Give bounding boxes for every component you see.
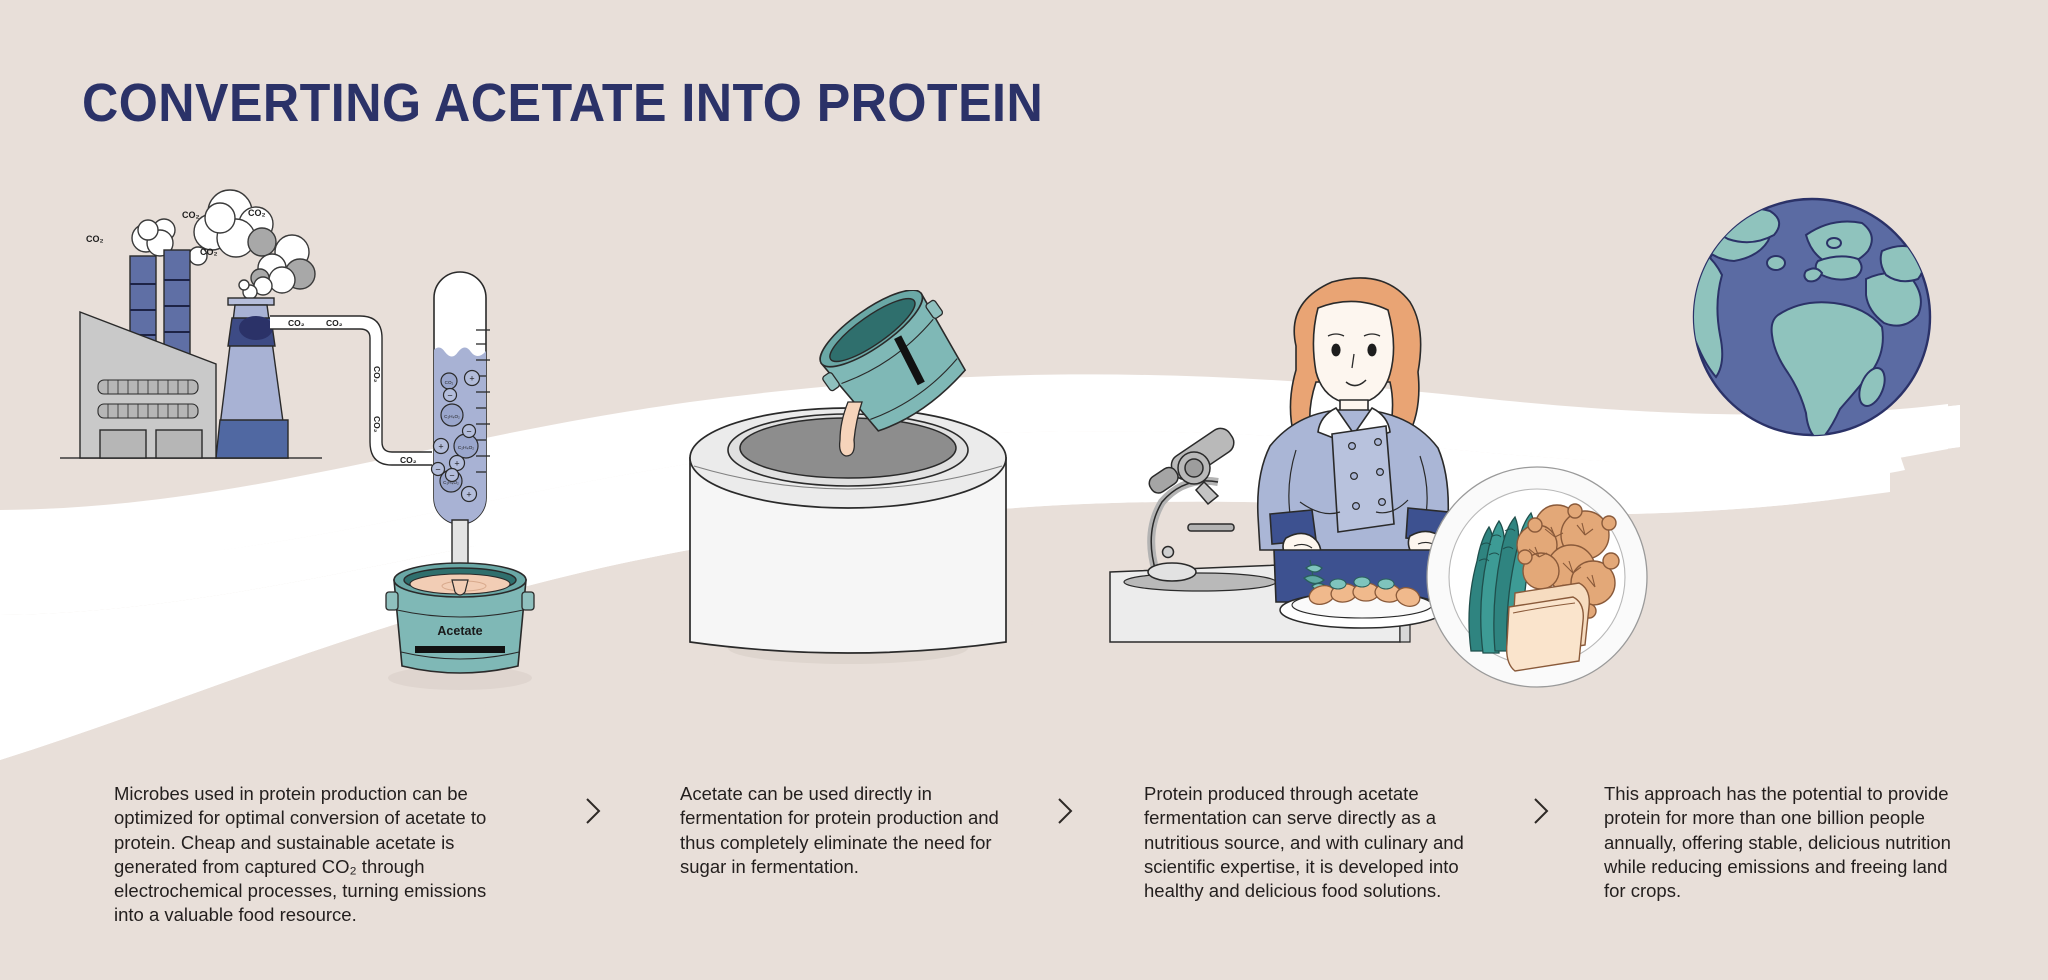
microscope-base	[1148, 563, 1196, 581]
co2-label-pipe-3: CO₂	[372, 366, 382, 383]
molecule-co2: CO₂	[441, 373, 457, 389]
chef-eye-right	[1367, 344, 1376, 357]
microscope-mat	[1124, 573, 1276, 591]
co2-label-pipe-2: CO₂	[326, 318, 343, 328]
svg-text:−: −	[447, 390, 452, 400]
scene-fermentation-tank	[670, 290, 1030, 690]
chevron-right-icon	[580, 794, 606, 828]
caption-step-4: This approach has the potential to provi…	[1604, 782, 1964, 903]
bucket-label-acetate: Acetate	[437, 624, 482, 638]
microscope-stage	[1188, 524, 1234, 531]
caption-row: Microbes used in protein production can …	[0, 782, 2048, 942]
co2-label-pipe-5: CO₂	[400, 455, 417, 465]
ion-negative: −	[432, 463, 445, 476]
acetate-bucket: Acetate	[386, 563, 534, 690]
svg-text:+: +	[469, 374, 474, 384]
chef-jacket-placket	[1332, 426, 1394, 532]
ion-negative: −	[463, 425, 476, 438]
svg-text:−: −	[435, 464, 440, 474]
plate-garnish	[1330, 577, 1394, 589]
svg-text:−: −	[466, 426, 471, 436]
svg-text:C₂H₄O₂: C₂H₄O₂	[444, 414, 460, 419]
factory-door-left	[100, 430, 146, 458]
factory-door-right	[156, 430, 202, 458]
chevron-right-icon	[1528, 794, 1554, 828]
molecule-acetate-1: C₂H₄O₂	[441, 404, 463, 426]
ion-negative: −	[446, 469, 459, 482]
svg-text:+: +	[438, 442, 443, 452]
co2-label-pipe-4: CO₂	[372, 416, 382, 433]
co2-label-smoke-3: CO₂	[248, 208, 266, 218]
microscope	[1144, 424, 1238, 581]
co2-label-smoke-2: CO₂	[182, 210, 200, 220]
co2-label-smoke-1: CO₂	[86, 234, 104, 244]
smoke-cloud-group	[132, 190, 315, 299]
caption-step-2: Acetate can be used directly in fermenta…	[680, 782, 1000, 879]
scene-factory-electrolyzer: CO₂ CO₂ CO₂ CO₂	[60, 180, 580, 720]
co2-pipe	[270, 316, 432, 465]
page-title: CONVERTING ACETATE INTO PROTEIN	[82, 72, 1043, 134]
electrolyzer-tube: CO₂ C₂H₄O₂ C₂H₄O₂ C₂H₄O₂ + −	[432, 272, 491, 580]
svg-text:+: +	[466, 490, 471, 500]
ion-positive: +	[462, 487, 477, 502]
svg-text:+: +	[454, 459, 459, 469]
chef-figure	[1258, 278, 1449, 602]
caption-step-3: Protein produced through acetate ferment…	[1144, 782, 1494, 903]
chevron-right-icon	[1052, 794, 1078, 828]
food-bread	[1507, 583, 1590, 671]
svg-text:−: −	[449, 470, 454, 480]
co2-label-pipe-1: CO₂	[288, 318, 305, 328]
tower-outlet	[239, 316, 273, 340]
microscope-focus-knob	[1163, 547, 1174, 558]
svg-text:C₂H₄O₂: C₂H₄O₂	[458, 445, 474, 451]
co2-label-smoke-4: CO₂	[200, 247, 218, 257]
molecule-acetate-2: C₂H₄O₂	[454, 434, 478, 458]
ion-positive: +	[465, 371, 480, 386]
svg-text:CO₂: CO₂	[445, 380, 454, 385]
caption-step-1: Microbes used in protein production can …	[114, 782, 514, 928]
chef-eye-left	[1331, 344, 1340, 357]
scene-earth-globe	[1690, 195, 1940, 445]
bucket-black-band	[415, 646, 505, 653]
scene-plated-food	[1425, 465, 1655, 690]
ion-positive: +	[434, 439, 449, 454]
ion-negative: −	[444, 389, 457, 402]
infographic-root: CONVERTING ACETATE INTO PROTEIN	[0, 0, 2048, 980]
chef-face	[1313, 301, 1393, 404]
